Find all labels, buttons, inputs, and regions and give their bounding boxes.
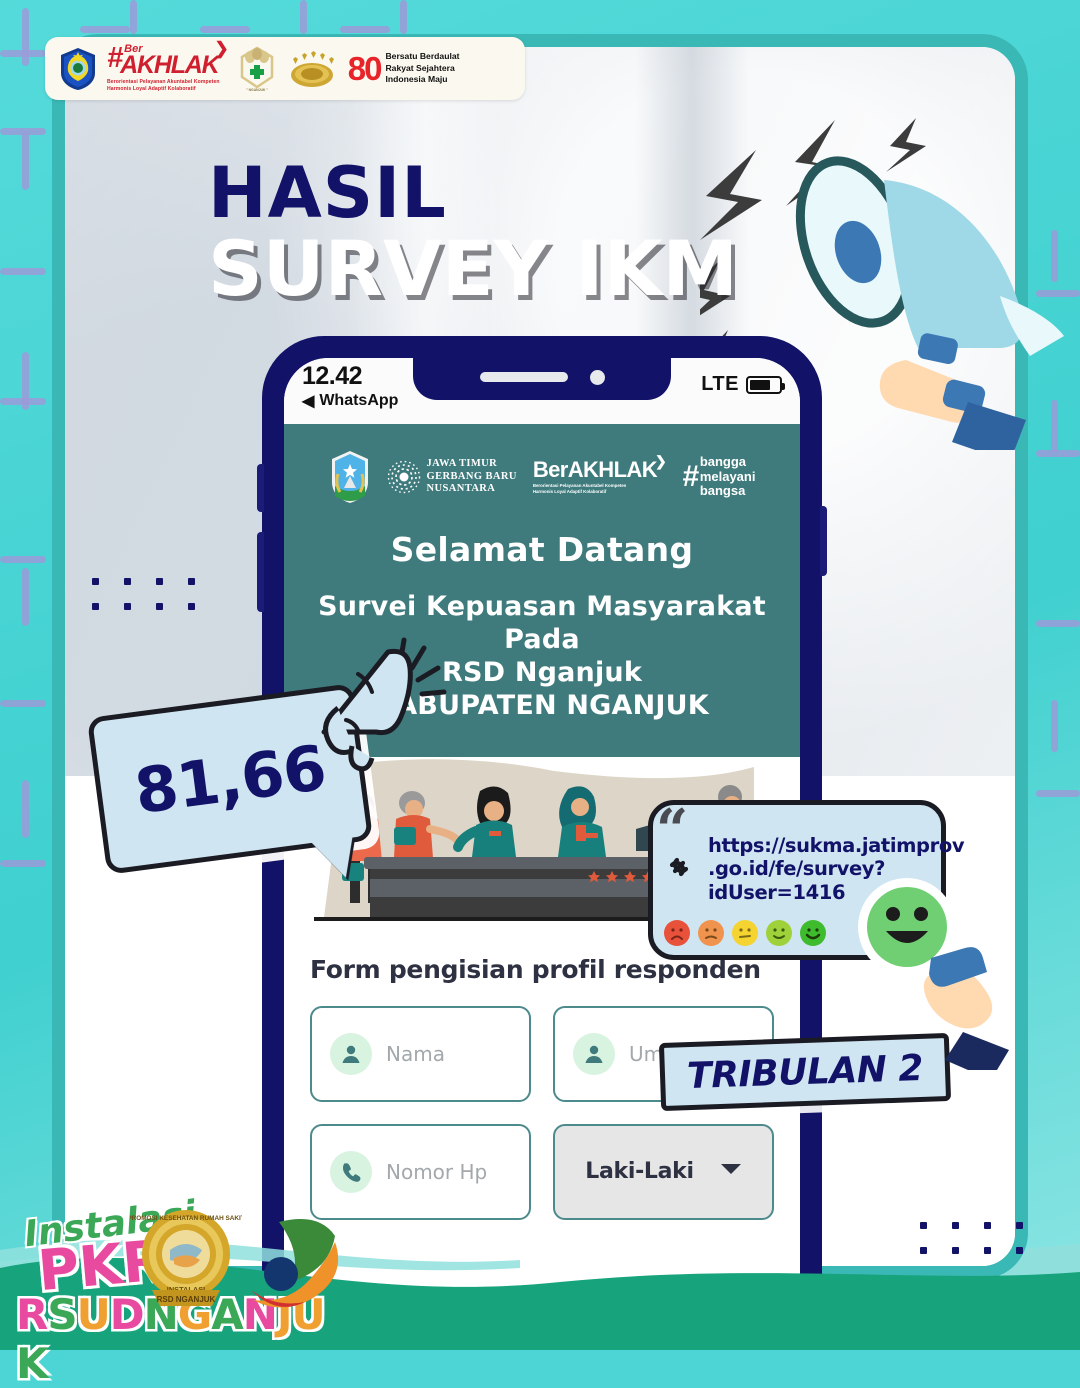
- welcome-title: Selamat Datang: [304, 530, 780, 569]
- bg-dash: [0, 860, 46, 867]
- bangga-line3: bangsa: [700, 484, 756, 499]
- bg-dash: [300, 0, 307, 34]
- jatim-coat-of-arms-icon: [329, 450, 371, 504]
- hand-pointer-illustration: [915, 940, 1035, 1070]
- bg-dash: [130, 0, 137, 34]
- bg-dash: [0, 128, 46, 135]
- quote-mark-icon: “: [656, 814, 688, 848]
- title-line-hasil: HASIL: [208, 160, 738, 227]
- person-icon: [573, 1033, 615, 1075]
- chevron-down-icon: [720, 1162, 742, 1181]
- emoji-rating-scale: [664, 920, 826, 946]
- bangga-hash-icon: #: [682, 460, 697, 494]
- jatim-nusantara-logo: JAWA TIMUR GERBANG BARU NUSANTARA: [387, 458, 517, 496]
- bg-dash: [22, 8, 29, 66]
- emoji-bad[interactable]: [698, 920, 724, 946]
- svg-text:" NGANJUK ": " NGANJUK ": [246, 88, 268, 92]
- bangga-line1: bangga: [700, 455, 756, 470]
- link-icon: [664, 852, 694, 887]
- tribulan-label: TRIBULAN 2: [686, 1047, 923, 1096]
- panel-berakhlak-logo: Ber AKHLAK ❯ Berorientasi Pelayanan Akun…: [533, 459, 666, 495]
- tribulan-box: TRIBULAN 2: [659, 1033, 951, 1111]
- nusantara-line2: GERBANG BARU: [427, 471, 517, 484]
- nomor-hp-field[interactable]: Nomor Hp: [310, 1124, 531, 1220]
- person-icon: [330, 1033, 372, 1075]
- nama-field[interactable]: Nama: [310, 1006, 531, 1102]
- rsud-swoosh-icon: [235, 1216, 345, 1316]
- survey-url-bubble: “ https://sukma.jatimprov .go.id/fe/surv…: [648, 800, 946, 960]
- bg-dash: [1036, 790, 1080, 797]
- bg-dash: [340, 26, 390, 33]
- bangga-melayani-bangsa-logo: # bangga melayani bangsa: [682, 455, 755, 499]
- bg-dash: [1036, 450, 1080, 457]
- panel-logo-row: JAWA TIMUR GERBANG BARU NUSANTARA Ber AK…: [304, 450, 780, 504]
- page-title: HASIL SURVEY IKM: [208, 160, 738, 307]
- pkrs-logo: Instalasi PKRS RSUDNGANJUK PROMOSI KESEH…: [10, 1204, 340, 1332]
- dot-grid-left: [92, 578, 195, 610]
- status-time: 12.42: [302, 364, 362, 389]
- emoji-good[interactable]: [766, 920, 792, 946]
- berakhlak-word: AKHLAK: [120, 53, 218, 78]
- nomor-hp-placeholder: Nomor Hp: [386, 1160, 487, 1184]
- small-megaphone-icon: [296, 628, 452, 778]
- emoji-very-good[interactable]: [800, 920, 826, 946]
- nusantara-line3: NUSANTARA: [427, 483, 517, 496]
- panel-berakhlak-subtitle: Berorientasi Pelayanan Akuntabel Kompete…: [533, 483, 666, 495]
- bg-dash: [0, 268, 46, 275]
- bg-dash: [0, 556, 46, 563]
- phone-power-button[interactable]: [820, 506, 827, 576]
- status-network: LTE: [701, 373, 739, 396]
- nusantara-mandala-icon: [387, 460, 421, 494]
- phone-notch: [413, 358, 671, 400]
- bg-dash: [0, 700, 46, 707]
- nama-placeholder: Nama: [386, 1042, 445, 1066]
- panel-ber-label: Ber: [533, 459, 568, 481]
- indonesia-80-logo: 80 Bersatu Berdaulat Rakyat Sejahtera In…: [348, 50, 460, 88]
- bangga-line2: melayani: [700, 470, 756, 485]
- top-logo-bar: # Ber AKHLAK ❯ Berorientasi Pelayanan Ak…: [45, 37, 525, 100]
- welcome-line-1: Survei Kepuasan Masyarakat: [304, 591, 780, 624]
- bg-dash: [200, 26, 250, 33]
- phone-volume-down-button[interactable]: [257, 532, 264, 612]
- emoji-very-bad[interactable]: [664, 920, 690, 946]
- bg-dash: [1036, 620, 1080, 627]
- health-logo-icon: " NGANJUK ": [238, 46, 276, 92]
- bg-dash: [22, 568, 29, 626]
- pkrs-medal-icon: PROMOSI KESEHATAN RUMAH SAKIT INSTALASI …: [130, 1206, 242, 1318]
- gold-emblem-icon: [285, 49, 339, 89]
- title-line-survey-ikm: SURVEY IKM: [208, 231, 738, 307]
- indonesia-80-number: 80: [348, 50, 381, 88]
- panel-arrow-icon: ❯: [655, 454, 666, 468]
- bg-dash: [0, 50, 46, 57]
- form-row-2: Nomor Hp Laki-Laki: [310, 1124, 774, 1220]
- berakhlak-subtitle: Berorientasi Pelayanan Akuntabel Kompete…: [107, 79, 229, 93]
- gender-select[interactable]: Laki-Laki: [553, 1124, 774, 1220]
- emoji-neutral[interactable]: [732, 920, 758, 946]
- tribulan-badge: TRIBULAN 2: [659, 1033, 951, 1111]
- bg-dash: [22, 780, 29, 838]
- berakhlak-logo: # Ber AKHLAK ❯ Berorientasi Pelayanan Ak…: [107, 44, 229, 93]
- front-camera-icon: [590, 370, 605, 385]
- gender-selected-value: Laki-Laki: [585, 1159, 694, 1184]
- bangga-text: bangga melayani bangsa: [700, 455, 756, 499]
- earpiece-speaker: [480, 372, 568, 382]
- back-arrow-icon: ◀: [302, 391, 314, 411]
- berakhlak-arrow-icon: ❯: [214, 40, 228, 57]
- bg-dash: [1051, 700, 1058, 752]
- bg-dash: [22, 132, 29, 190]
- phone-volume-up-button[interactable]: [257, 464, 264, 512]
- svg-text:PROMOSI KESEHATAN RUMAH SAKIT: PROMOSI KESEHATAN RUMAH SAKIT: [130, 1215, 242, 1222]
- back-app-label: WhatsApp: [319, 392, 398, 410]
- bg-dash: [80, 26, 130, 33]
- panel-akhlak-label: AKHLAK: [568, 459, 657, 481]
- nusantara-line1: JAWA TIMUR: [427, 458, 517, 471]
- battery-icon: [746, 376, 782, 394]
- bg-dash: [0, 398, 46, 405]
- url-line-1: https://sukma.jatimprov: [708, 834, 936, 857]
- status-back-app[interactable]: ◀ WhatsApp: [302, 391, 398, 411]
- indonesia-80-text: Bersatu Berdaulat Rakyat Sejahtera Indon…: [385, 51, 459, 85]
- status-bar: 12.42 ◀ WhatsApp LTE: [284, 358, 800, 424]
- kemenkes-seal-icon: [58, 47, 98, 91]
- nusantara-text: JAWA TIMUR GERBANG BARU NUSANTARA: [427, 458, 517, 496]
- svg-text:RSD NGANJUK: RSD NGANJUK: [157, 1295, 216, 1304]
- bg-dash: [400, 0, 407, 34]
- phone-icon: [330, 1151, 372, 1193]
